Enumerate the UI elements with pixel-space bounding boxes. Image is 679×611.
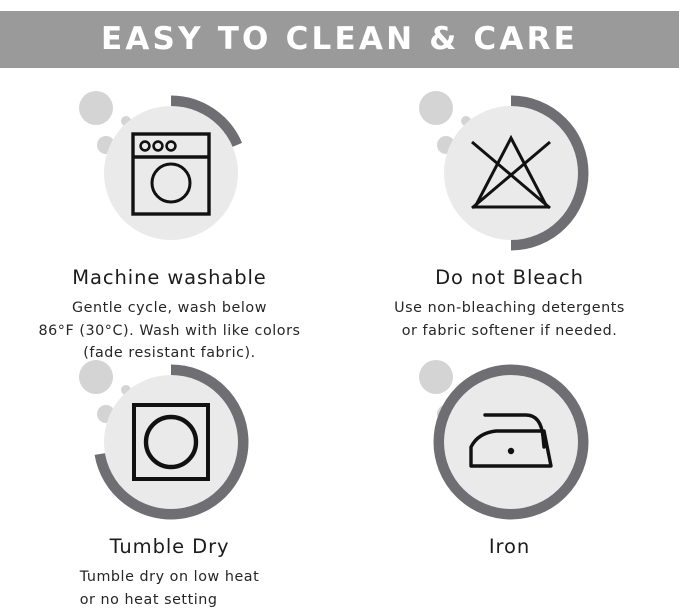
card-body: Use non-bleaching detergents or fabric s…	[394, 297, 625, 341]
page-title: EASY TO CLEAN & CARE	[101, 24, 578, 55]
icon-medallion-iron	[410, 353, 610, 531]
bubble-large-icon	[79, 91, 113, 125]
card-title: Tumble Dry	[110, 535, 230, 559]
icon-disc	[444, 375, 578, 509]
icon-medallion-tumble-dry	[70, 353, 270, 531]
header-banner: EASY TO CLEAN & CARE	[0, 11, 679, 68]
icon-medallion-do-not-bleach	[410, 84, 610, 262]
care-card-iron: Iron	[340, 353, 679, 559]
icon-disc	[104, 375, 238, 509]
bubble-large-icon	[419, 360, 453, 394]
care-instructions-infographic: { "banner": { "title": "EASY TO CLEAN & …	[0, 0, 679, 593]
card-title: Iron	[489, 535, 530, 559]
no-bleach-triangle-icon	[410, 84, 610, 262]
bubble-large-icon	[79, 360, 113, 394]
care-card-do-not-bleach: Do not Bleach Use non-bleaching detergen…	[340, 84, 679, 342]
iron-heat-dot-icon	[507, 448, 513, 454]
care-card-tumble-dry: Tumble Dry Tumble dry on low heat or no …	[0, 353, 339, 611]
icon-medallion-machine-washable	[70, 84, 270, 262]
card-body: Tumble dry on low heat or no heat settin…	[80, 566, 260, 610]
care-card-grid: Machine washable Gentle cycle, wash belo…	[0, 80, 679, 593]
washing-machine-icon	[70, 84, 270, 262]
card-title: Machine washable	[72, 266, 266, 290]
card-title: Do not Bleach	[435, 266, 584, 290]
icon-disc	[444, 106, 578, 240]
bubble-large-icon	[419, 91, 453, 125]
iron-icon	[410, 353, 610, 531]
icon-disc	[104, 106, 238, 240]
tumble-dry-icon	[70, 353, 270, 531]
care-card-machine-washable: Machine washable Gentle cycle, wash belo…	[0, 84, 339, 364]
